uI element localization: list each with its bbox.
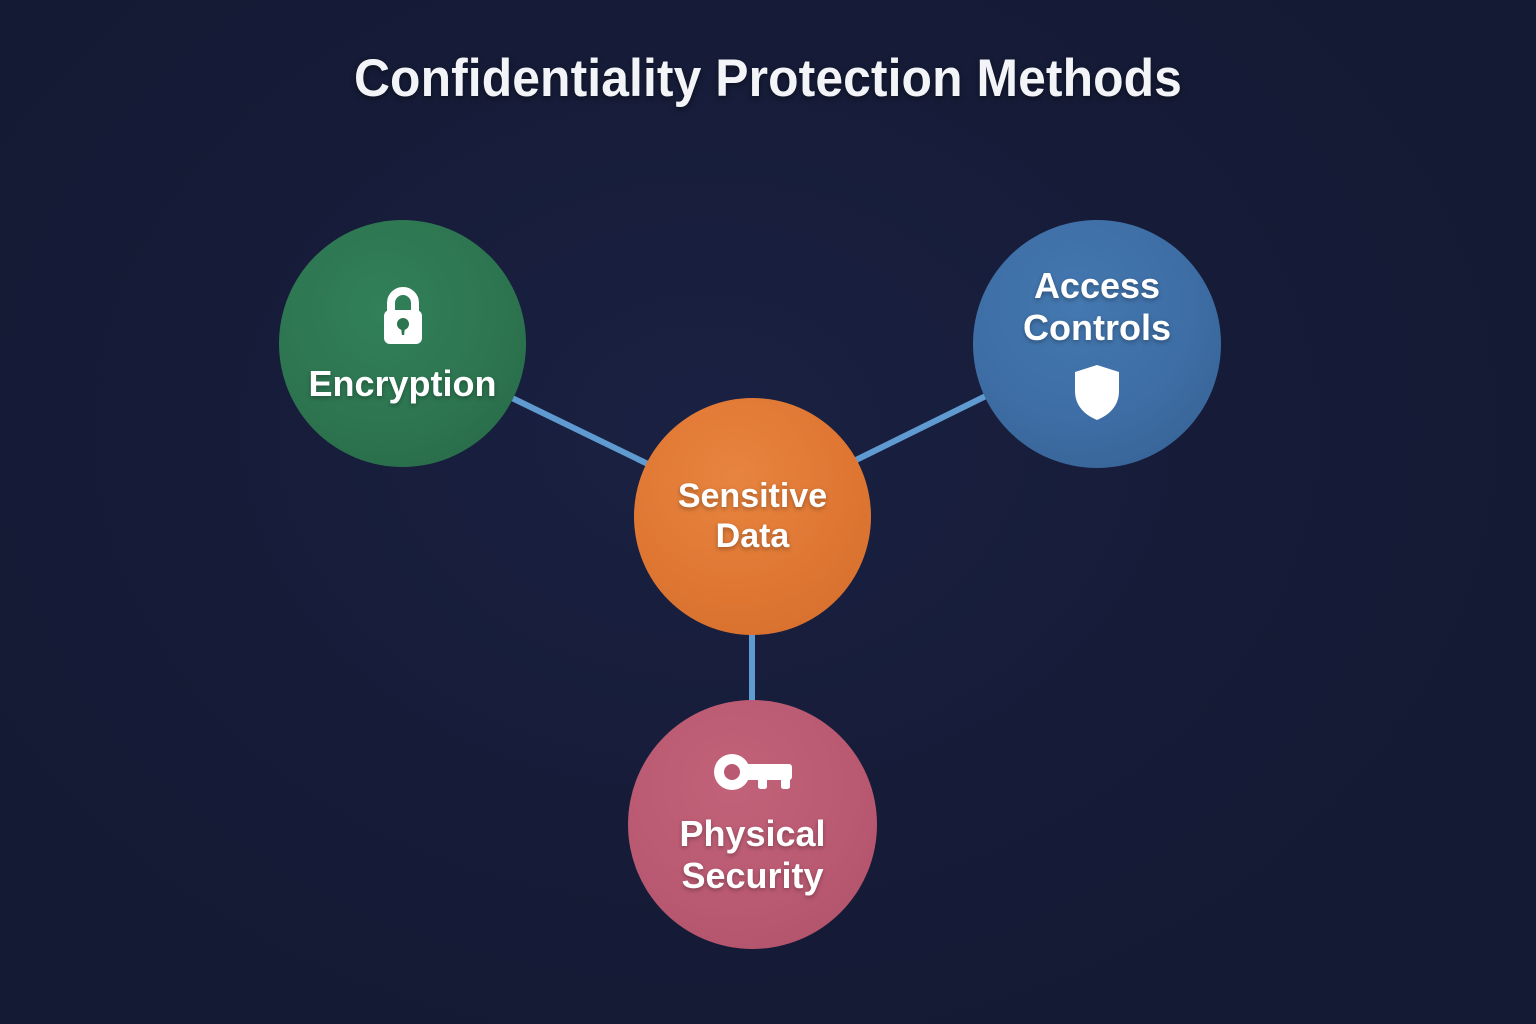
- node-sensitive-data-label: Sensitive Data: [678, 477, 827, 556]
- node-access-controls[interactable]: Access Controls: [973, 220, 1221, 468]
- node-sensitive-data[interactable]: Sensitive Data: [634, 398, 871, 635]
- edge-sensitive-data-to-access-controls: [856, 392, 994, 460]
- node-physical-security-label: Physical Security: [679, 813, 825, 897]
- node-encryption[interactable]: Encryption: [279, 220, 526, 467]
- shield-icon: [1069, 361, 1125, 423]
- node-access-controls-label: Access Controls: [1023, 265, 1171, 349]
- node-encryption-label: Encryption: [308, 363, 496, 405]
- diagram-canvas: Confidentiality Protection Methods Encry…: [0, 0, 1536, 1024]
- edge-encryption-to-sensitive-data: [510, 397, 652, 466]
- padlock-icon: [376, 283, 430, 349]
- node-physical-security[interactable]: Physical Security: [628, 700, 877, 949]
- key-icon: [710, 753, 796, 799]
